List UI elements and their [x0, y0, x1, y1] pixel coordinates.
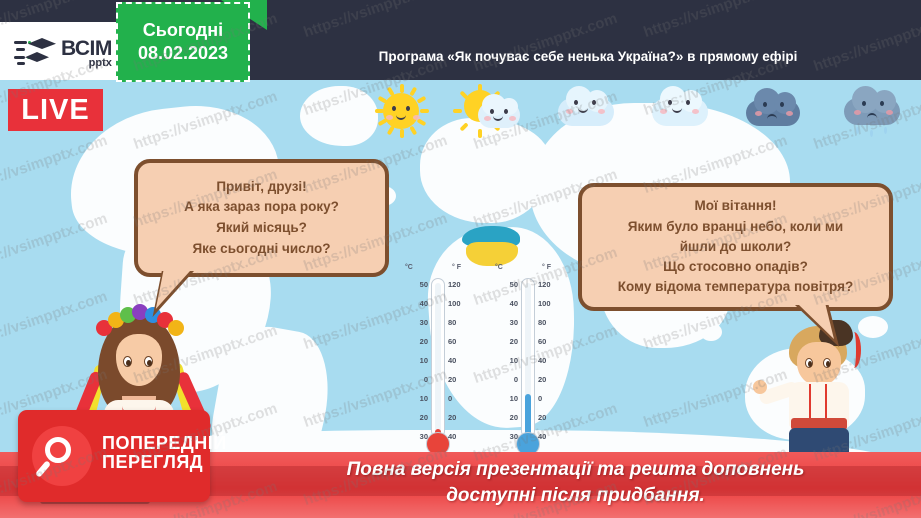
live-label: LIVE — [21, 94, 89, 127]
weather-icon-row — [372, 82, 921, 140]
speech-bubble-left: Привіт, друзі! А яка зараз пора року? Як… — [134, 159, 389, 277]
purchase-notice: Повна версія презентації та решта доповн… — [230, 452, 921, 514]
date-label: Сьогодні — [143, 20, 223, 41]
date-badge: Сьогодні 08.02.2023 — [116, 2, 250, 82]
preview-badge[interactable]: ПОПЕРЕДНІЙ ПЕРЕГЛЯД — [18, 410, 210, 502]
header-title: Програма «Як почуває себе ненька Україна… — [379, 49, 798, 64]
fahrenheit-scale: 120 100 80 60 40 20 0 20 40 — [538, 280, 564, 436]
magnifier-icon — [32, 426, 92, 486]
preview-label-line-1: ПОПЕРЕДНІЙ — [102, 434, 227, 453]
purchase-notice-line-2: доступні після придбання. — [446, 483, 705, 509]
thermometer-tube — [521, 278, 535, 438]
unit-fahrenheit-label: ° F — [542, 264, 551, 271]
speech-bubble-right-text: Мої вітання! Яким було вранці небо, коли… — [618, 196, 854, 297]
graduation-cap-icon — [14, 36, 58, 70]
unit-celsius-label: °C — [405, 264, 413, 271]
speech-bubble-right: Мої вітання! Яким було вранці небо, коли… — [578, 183, 893, 311]
celsius-scale: 50 40 30 20 10 0 10 20 30 — [492, 280, 518, 436]
flower-crown-icon — [94, 306, 184, 336]
landmass — [700, 323, 722, 341]
thermometer-left: °C ° F 50 40 30 20 10 0 10 20 30 120 100… — [396, 264, 480, 460]
cloud-icon — [556, 82, 618, 140]
preview-label-line-2: ПЕРЕГЛЯД — [102, 453, 227, 472]
celsius-scale: 50 40 30 20 10 0 10 20 30 — [402, 280, 428, 436]
cloud-icon — [650, 82, 712, 140]
logo-name: ВСІМ — [61, 38, 112, 59]
speech-bubble-left-text: Привіт, друзі! А яка зараз пора року? Як… — [184, 177, 339, 259]
slide-root: °C ° F 50 40 30 20 10 0 10 20 30 120 100… — [0, 0, 921, 518]
ukraine-marker-yellow — [466, 242, 518, 266]
sun-behind-cloud-icon — [462, 82, 524, 140]
rain-cloud-icon — [842, 82, 904, 140]
thermometer-right: °C ° F 50 40 30 20 10 0 10 20 30 120 100… — [486, 264, 570, 460]
sun-icon — [372, 82, 434, 140]
unit-fahrenheit-label: ° F — [452, 264, 461, 271]
date-value: 08.02.2023 — [138, 43, 228, 64]
boy-character — [775, 318, 879, 460]
landmass — [300, 86, 378, 146]
purchase-notice-line-1: Повна версія презентації та решта доповн… — [347, 457, 805, 483]
thermometer-tube — [431, 278, 445, 438]
fahrenheit-scale: 120 100 80 60 40 20 0 20 40 — [448, 280, 474, 436]
live-badge: LIVE — [8, 89, 103, 131]
dark-cloud-icon — [744, 82, 806, 140]
ukraine-flag-marker — [462, 226, 520, 268]
header-ribbon: Програма «Як почуває себе ненька Україна… — [262, 40, 914, 72]
thermometer-mercury — [525, 394, 531, 435]
unit-celsius-label: °C — [495, 264, 503, 271]
